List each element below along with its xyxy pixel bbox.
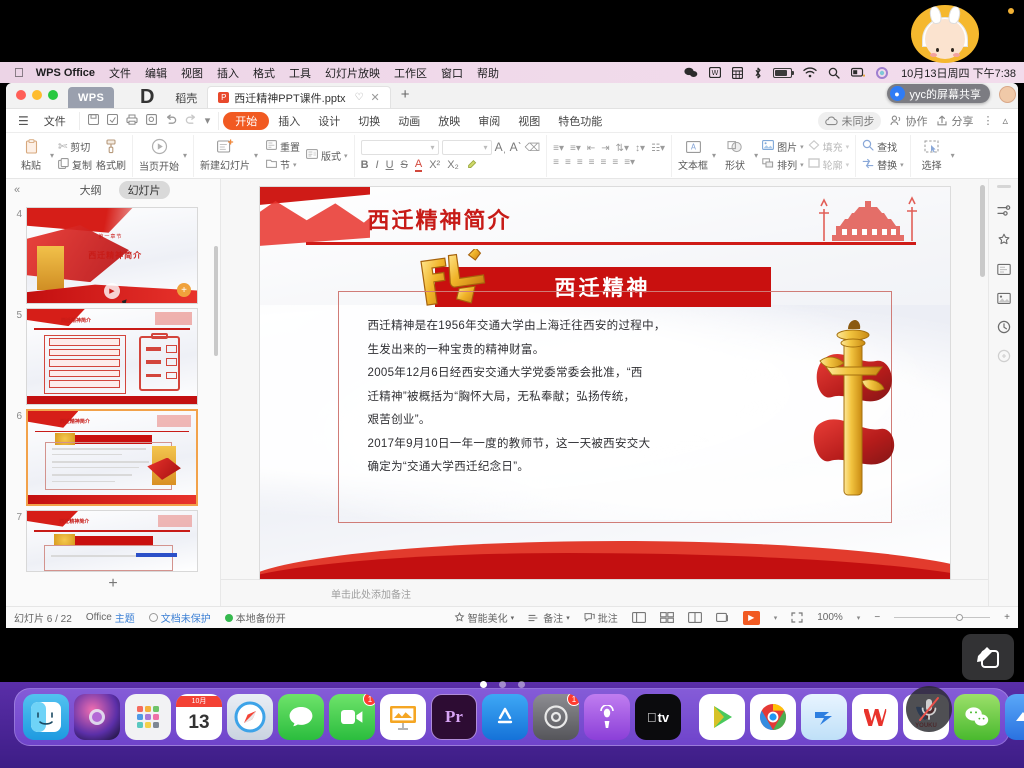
thumbnail-number: 6 [10,409,26,422]
distribute-button[interactable]: ≡ [601,157,607,168]
right-rail [988,179,1018,606]
slide-layout-icon[interactable] [995,261,1013,277]
close-icon[interactable]: ✕ [370,91,379,104]
highlight-icon[interactable] [466,158,478,172]
tab-presentation-file[interactable]: P 西迁精神PPT课件.pptx ♡ ✕ [207,86,390,108]
fill-button[interactable]: 填充 ▾ [808,139,850,154]
thumbnail-play-icon[interactable]: ▶ [104,283,120,299]
section-label: 节 [280,157,290,172]
list-item[interactable]: 7 西迁精神简介 [6,506,220,572]
comment-icon[interactable]: ♡ [355,92,364,103]
wechat-icon[interactable] [684,67,698,78]
wps-cloud-icon[interactable]: W [709,67,721,78]
add-slide-button[interactable]: + [6,572,220,593]
thumbnail-add-icon[interactable]: + [177,283,191,297]
avatar-eye-left [936,48,939,52]
calendar-month: 10月 [176,696,222,707]
text-direction-button[interactable]: ⇅▾ [616,143,629,154]
save-as-icon[interactable] [107,114,118,128]
body-line: 迁精神”被概括为“胸怀大局，无私奉献；弘扬传统， [368,386,744,410]
dock-item-siri[interactable] [74,694,120,740]
dock-item-app-store[interactable] [482,694,528,740]
save-icon[interactable] [88,114,99,128]
tab-docer-label: 稻壳 [175,90,197,106]
view-reading-icon[interactable] [688,612,702,623]
ribbon-tab-design[interactable]: 设计 [309,112,349,130]
zoom-level-label[interactable]: 100% [817,612,843,623]
docer-icon: D [124,83,170,121]
calendar-day: 13 [188,707,209,739]
customize-icon[interactable]: ▾ [205,114,211,127]
paragraph-settings-button[interactable]: ≡▾ [624,157,635,168]
thumbnail-art: 西迁精神简介 [27,511,197,571]
outline-button[interactable]: 轮廓 ▾ [808,157,850,172]
layout-label: 版式 [321,148,341,163]
beautify-icon [454,612,465,623]
replace-button[interactable]: 替换 ▾ [862,157,904,172]
format-painter-button[interactable]: 格式刷 [96,139,126,172]
section-button[interactable]: 节 ▾ [266,157,300,172]
group-select: 选择 ▾ [911,135,961,177]
collaborate-button[interactable]: 协作 [890,113,927,129]
traffic-lights[interactable] [14,83,68,108]
menubar-item-help[interactable]: 帮助 [477,65,499,81]
screen-share-label: yyc的屏幕共享 [910,86,982,102]
dock-item-safari[interactable] [227,694,273,740]
thumbnail-slide-6[interactable]: 西迁精神简介 [26,409,198,506]
reset-icon [266,140,277,153]
reset-label: 重置 [280,139,300,154]
shape-label: 形状 [725,157,745,172]
cut-icon: ✄ [58,140,67,153]
arrange-button[interactable]: 排列 ▾ [762,157,804,172]
paste-button[interactable]: 粘贴 [16,139,46,172]
desktop-screen:  WPS Office 文件 编辑 视图 插入 格式 工具 幻灯片放映 工作区… [0,0,1024,768]
screen-share-pill[interactable]: ● yyc的屏幕共享 [887,84,991,103]
slide-panel-header: « 大纲 幻灯片 [6,179,220,201]
thumbnail-number: 4 [10,207,26,220]
thumbnail-slide-4[interactable]: 第一章节 西迁精神简介 ▶ + [26,207,198,304]
thumbnail-list[interactable]: 4 第一章节 西迁精神简介 ▶ + [6,201,220,606]
sync-status-label: 未同步 [841,113,874,129]
format-painter-label: 格式刷 [96,157,126,172]
copy-label: 复制 [72,157,92,172]
align-row: ≡ ≡ ≡ ≡ ≡ ≡ ≡▾ [553,157,665,168]
ribbon-tab-review[interactable]: 审阅 [469,112,509,130]
group-clipboard: 粘贴 ▾ ✄ 剪切 复制 [10,135,133,177]
tiananmen-icon [810,191,926,243]
font-color-button[interactable]: A [415,158,422,172]
play-slideshow-button[interactable]: ▶ [743,611,760,625]
chevron-left-icon[interactable]: « [14,184,20,196]
slide-editor-stage[interactable]: 西迁精神简介 西迁精神 [221,179,988,606]
replace-icon [862,158,874,172]
desktop-dot-2[interactable] [499,681,506,688]
new-tab-button[interactable]: + [391,87,420,104]
underline-button[interactable]: U [386,159,394,171]
wifi-icon[interactable] [803,67,817,78]
dock-item-meeting[interactable] [1005,694,1024,740]
line-spacing-button[interactable]: ↕▾ [635,143,645,154]
font-size-input[interactable]: ▾ [442,140,492,155]
select-label: 选择 [922,157,942,172]
desktop-pager[interactable] [480,681,525,688]
ribbon-toolbar: 粘贴 ▾ ✄ 剪切 复制 [6,133,1018,179]
bullet-list-button[interactable]: ≡▾ [553,143,564,154]
fill-icon [808,140,820,153]
comments-icon [584,612,595,623]
list-item[interactable]: 4 第一章节 西迁精神简介 ▶ + [6,203,220,304]
dock-item-video-player[interactable] [699,694,745,740]
dock-item-apple-tv[interactable]:  tv [635,694,681,740]
properties-icon[interactable] [995,203,1013,219]
italic-button[interactable]: I [376,159,379,171]
body-line: 西迁精神是在1956年交通大学由上海迁往西安的过程中， [368,315,744,339]
body-line: 确定为“交通大学西迁纪念日”。 [368,456,744,480]
menubar-clock[interactable]: 10月13日周四 下午7:38 [901,65,1016,81]
avatar-face [925,19,965,59]
picture-icon [762,140,774,153]
menubar-item-window[interactable]: 窗口 [441,65,463,81]
fullscreen-icon[interactable] [791,612,803,623]
ribbon-tab-animation[interactable]: 动画 [389,112,429,130]
tab-presentation-label: 西迁精神PPT课件.pptx [234,90,345,106]
cloud-sync-icon [825,116,838,126]
chevron-up-icon[interactable]: ▵ [1002,114,1008,127]
group-font: ▾ ▾ Aˌ Aˋ ⌫ B I U S A X² X₂ [355,135,548,177]
find-label: 查找 [877,139,897,154]
body-line: 2005年12月6日经西安交通大学党委常委会批准，“西 [368,362,744,386]
copy-button[interactable]: 复制 [58,157,92,172]
group-editing: 查找 替换 ▾ [856,135,911,177]
clear-format-icon[interactable]: ⌫ [525,141,541,154]
mic-muted-icon [917,696,941,722]
stage-scrollbar[interactable] [980,185,985,277]
redo-icon[interactable] [185,114,197,128]
ribbon-tab-home[interactable]: 开始 [223,112,269,130]
fill-label: 填充 [823,139,843,154]
columns-button[interactable]: ☷▾ [651,143,665,154]
collaborate-label: 协作 [905,113,927,129]
gear-icon [543,704,569,730]
picture-button[interactable]: 图片 ▾ [762,139,804,154]
slide-bottom-wave [260,533,950,579]
markup-tool-overlay[interactable] [962,634,1014,680]
shape-button[interactable]: 形状 [720,140,750,172]
thumbnail-title: 西迁精神简介 [61,317,91,324]
textbox-icon: A [686,140,701,156]
list-row: ≡▾ ≡▾ ⇤ ⇥ ⇅▾ ↕▾ ☷▾ [553,143,665,154]
svg-text:A: A [690,142,696,151]
zoom-options-icon[interactable]: ▾ [857,614,861,622]
avatar[interactable] [999,86,1016,103]
thumbnail-art: 第一章节 西迁精神简介 ▶ + [27,208,197,303]
sync-status-button[interactable]: 未同步 [818,112,881,130]
tab-docer[interactable]: D 稻壳 [114,87,207,108]
slide-counter: 幻灯片 6 / 22 [14,610,72,625]
thumbnail-art: 西迁精神简介 [27,309,197,404]
play-circle-icon [151,138,168,157]
group-paragraph: ≡▾ ≡▾ ⇤ ⇥ ⇅▾ ↕▾ ☷▾ ≡ ≡ ≡ ≡ ≡ ≡ [547,135,672,177]
locked-icon[interactable] [995,348,1013,364]
svg-text:W: W [712,69,719,77]
image-tools-icon[interactable] [995,290,1013,306]
find-icon [862,139,874,154]
zoom-out-button[interactable]: − [874,612,880,623]
person-icon: ● [890,86,905,101]
view-normal-icon[interactable] [632,612,646,623]
tab-wps-home-label: WPS [78,92,104,104]
dock-item-xunlei[interactable] [801,694,847,740]
system-preferences-badge: 1 [567,694,579,706]
zoom-in-button[interactable]: + [1004,612,1010,623]
slide-ribbon-decoration [260,187,370,249]
menubar-item-tools[interactable]: 工具 [289,65,311,81]
theme-status[interactable]: Office 主题 [86,610,135,625]
view-present-icon[interactable] [716,612,729,623]
hamburger-icon[interactable]: ☰ [12,114,35,128]
share-icon [936,115,948,126]
dock-item-finder[interactable] [23,694,69,740]
numbered-list-button[interactable]: ≡▾ [570,143,581,154]
arrange-label: 排列 [777,157,797,172]
notification-dot [1008,8,1014,14]
mic-mute-button[interactable] [906,686,952,732]
align-center-button[interactable]: ≡ [565,157,571,168]
beautify-button[interactable]: 智能美化▾ [454,610,515,625]
new-slide-icon [217,139,234,156]
select-button[interactable]: 选择 [917,140,947,172]
cut-label: 剪切 [70,139,90,154]
thumbnail-number: 5 [10,308,26,321]
paste-icon [24,139,39,156]
huabiao-icon [806,317,902,507]
start-from-current-button[interactable]: 当页开始 [139,138,179,173]
layout-button[interactable]: 版式 ▾ [306,148,348,163]
body-line: 生发出来的一种宝贵的精神财富。 [368,339,744,363]
battery-icon[interactable] [773,68,792,78]
superscript-button[interactable]: X² [429,159,440,171]
history-icon[interactable] [995,319,1013,335]
user-avatar-bubble[interactable] [911,5,979,63]
check-icon [225,614,233,622]
find-button[interactable]: 查找 [862,139,904,154]
dock-item-wps-office[interactable] [852,694,898,740]
decrease-indent-button[interactable]: ⇤ [587,143,595,154]
cut-button[interactable]: ✄ 剪切 [58,139,92,154]
new-slide-label: 新建幻灯片 [200,157,250,172]
menubar-item-edit[interactable]: 编辑 [145,65,167,81]
group-slides: 新建幻灯片 ▾ 重置 节 ▾ [194,135,355,177]
collaborate-icon [890,115,902,126]
comments-label: 批注 [598,610,618,625]
pptx-icon: P [218,92,229,103]
shield-icon [149,613,158,622]
tab-wps-home[interactable]: WPS [68,87,114,108]
ribbon-tab-insert[interactable]: 插入 [269,112,309,130]
dock-item-messages[interactable] [278,694,324,740]
close-window-button[interactable] [16,90,26,100]
group-insert: A 文本框 ▾ 形状 ▾ 图片 [672,135,856,177]
ribbon-tab-slideshow[interactable]: 放映 [429,112,469,130]
select-icon [924,140,940,156]
font-name-input[interactable]: ▾ [361,140,439,155]
dock-item-premiere-pro[interactable]: Pr [431,694,477,740]
grow-font-button[interactable]: Aˌ [495,140,507,154]
desktop-dot-1[interactable] [480,681,487,688]
menubar-item-insert[interactable]: 插入 [217,65,239,81]
rail-handle[interactable] [997,185,1011,188]
paste-label: 粘贴 [21,157,41,172]
share-label: 分享 [951,113,973,129]
new-slide-button[interactable]: 新建幻灯片 [200,139,250,172]
avatar-eye-right [951,48,954,52]
facetime-badge: 1 [363,694,375,706]
dock-item-facetime[interactable]: 1 [329,694,375,740]
textbox-button[interactable]: A 文本框 [678,140,708,172]
dock-item-calendar[interactable]: 10月 13 [176,694,222,740]
avatar-cheek-right [953,53,960,57]
shrink-font-button[interactable]: Aˋ [510,140,522,154]
textbox-label: 文本框 [678,157,708,172]
align-right-button[interactable]: ≡ [577,157,583,168]
view-sorter-icon[interactable] [660,612,674,623]
body-line: 艰苦创业”。 [368,409,744,433]
thumbnail-number: 7 [10,510,26,523]
apple-icon[interactable]:  [14,66,24,79]
body-line: 2017年9月10日一年一度的教师节，这一天被西安交大 [368,433,744,457]
font-format-row: B I U S A X² X₂ [361,158,541,172]
list-item[interactable]: 5 西迁精神简介 [6,304,220,405]
thumbnail-title: 西迁精神简介 [88,250,142,261]
zoom-slider[interactable] [894,617,990,618]
desktop-dot-3[interactable] [518,681,525,688]
premiere-label: Pr [445,707,463,727]
layout-icon [306,149,318,162]
play-options-icon[interactable]: ▾ [774,614,778,622]
notes-pane[interactable]: 单击此处添加备注 [221,579,988,606]
replace-label: 替换 [877,157,897,172]
minimize-window-button[interactable] [32,90,42,100]
align-left-button[interactable]: ≡ [553,157,559,168]
thumbnail-subtitle: 第一章节 [98,233,122,240]
ribbon-file-menu[interactable]: 文件 [35,112,75,130]
markup-pen-icon [975,644,1001,670]
design-idea-icon[interactable] [995,232,1013,248]
slide-panel: « 大纲 幻灯片 4 [6,179,221,606]
beautify-label: 智能美化 [468,610,508,625]
slide-body-text[interactable]: 西迁精神是在1956年交通大学由上海迁往西安的过程中， 生发出来的一种宝贵的精神… [368,315,744,480]
outline-label: 轮廓 [823,157,843,172]
comments-button[interactable]: 批注 [584,610,618,625]
outline-icon [808,158,820,171]
thumbnail-art: 西迁精神简介 [28,411,196,504]
current-slide[interactable]: 西迁精神简介 西迁精神 [260,187,950,579]
strikethrough-button[interactable]: S [401,159,408,171]
ribbon-tab-transition[interactable]: 切换 [349,112,389,130]
mac-menubar:  WPS Office 文件 编辑 视图 插入 格式 工具 幻灯片放映 工作区… [0,62,1024,83]
shape-icon [727,140,743,156]
notes-button[interactable]: 备注▾ [528,610,570,625]
control-center-icon[interactable] [851,67,865,78]
format-painter-icon [104,139,118,156]
dock: 10月 13 1 Pr 1  tv [14,688,1010,746]
window-tabstrip: WPS D 稻壳 P 西迁精神PPT课件.pptx ♡ ✕ + [6,83,1018,109]
picture-label: 图片 [777,139,797,154]
theme-prefix: Office [86,612,112,623]
tab-outline[interactable]: 大纲 [71,181,111,199]
wps-window: WPS D 稻壳 P 西迁精神PPT课件.pptx ♡ ✕ + ☰ 文件 [6,83,1018,628]
dock-item-system-preferences[interactable]: 1 [533,694,579,740]
title-underline [306,242,916,245]
bluetooth-icon[interactable] [754,67,762,79]
avatar-cheek-left [930,53,937,57]
justify-button[interactable]: ≡ [589,157,595,168]
notes-label: 备注 [543,610,563,625]
increase-indent-button[interactable]: ⇥ [601,143,609,154]
section-icon [266,158,277,171]
share-button[interactable]: 分享 [936,113,973,129]
zoom-slider-handle[interactable] [956,614,963,621]
arrange-icon [762,158,774,171]
copy-icon [58,158,69,172]
status-badge[interactable]: 文档未保护 [149,610,211,625]
dock-item-podcasts[interactable] [584,694,630,740]
notes-icon [528,613,540,623]
notes-placeholder: 单击此处添加备注 [331,590,411,601]
thumbnail-title: 西迁精神简介 [59,518,89,525]
start-from-current-label: 当页开始 [139,158,179,173]
list-item[interactable]: 6 西迁精神简介 [6,405,220,506]
thumbnail-slide-5[interactable]: 西迁精神简介 [26,308,198,405]
menubar-item-file[interactable]: 文件 [109,65,131,81]
siri-icon[interactable] [876,67,888,79]
subscript-button[interactable]: X₂ [447,159,459,171]
calculator-icon[interactable] [732,67,743,79]
protection-label[interactable]: 文档未保护 [161,610,211,625]
reset-button[interactable]: 重置 [266,139,300,154]
zoom-window-button[interactable] [48,90,58,100]
backup-status[interactable]: 本地备份开 [225,610,286,625]
page-title[interactable]: 西迁精神简介 [368,203,512,235]
group-present: 当页开始 ▾ [133,135,194,177]
menubar-item-format[interactable]: 格式 [253,65,275,81]
status-bar: 幻灯片 6 / 22 Office 主题 文档未保护 本地备份开 智能美化▾ 备… [6,606,1018,628]
thumbnail-slide-7[interactable]: 西迁精神简介 [26,510,198,572]
dock-item-launchpad[interactable] [125,694,171,740]
bold-button[interactable]: B [361,159,369,171]
dock-item-chrome[interactable] [750,694,796,740]
search-icon[interactable] [828,67,840,79]
menubar-item-workspace[interactable]: 工作区 [394,65,427,81]
dock-item-wechat[interactable] [954,694,1000,740]
sidebar-scrollbar[interactable] [214,246,218,356]
menubar-item-view[interactable]: 视图 [181,65,203,81]
align-vertical-button[interactable]: ≡ [612,157,618,168]
menubar-item-slideshow[interactable]: 幻灯片放映 [325,65,380,81]
backup-label: 本地备份开 [236,610,286,625]
editor-main: « 大纲 幻灯片 4 [6,179,1018,606]
dock-item-keynote[interactable] [380,694,426,740]
menubar-app-name[interactable]: WPS Office [36,67,95,79]
theme-name[interactable]: 主题 [115,610,135,625]
thumbnail-title: 西迁精神简介 [60,418,90,425]
ribbon-tab-features[interactable]: 特色功能 [549,112,611,130]
ribbon-tab-view[interactable]: 视图 [509,112,549,130]
more-icon[interactable]: ⋮ [982,114,993,127]
tab-slides[interactable]: 幻灯片 [119,181,170,199]
apple-tv-label: tv [658,710,670,725]
